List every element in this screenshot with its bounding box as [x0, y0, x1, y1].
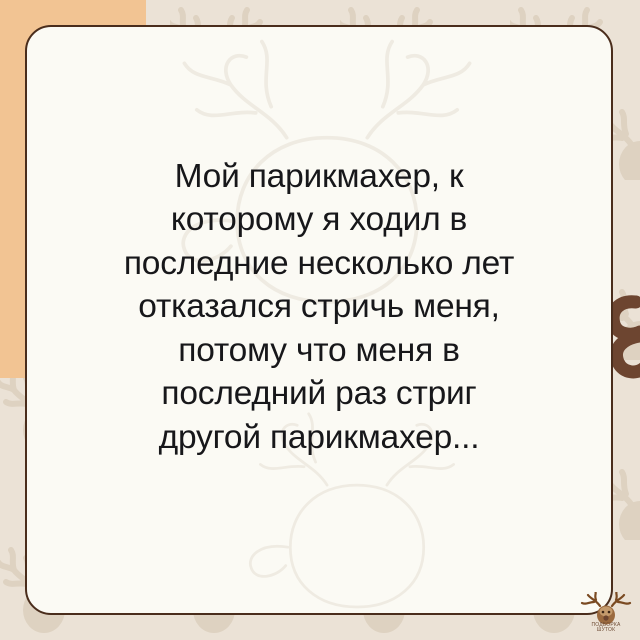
brand-watermark-caption: ПОДБОРКА ШУТОК: [578, 623, 634, 635]
brand-watermark: ПОДБОРКА ШУТОК: [578, 592, 634, 636]
quote-container: Мой парикмахер, к которому я ходил в пос…: [27, 27, 611, 613]
quote-text: Мой парикмахер, к которому я ходил в пос…: [104, 155, 534, 460]
quote-card: Мой парикмахер, к которому я ходил в пос…: [25, 25, 613, 615]
image-canvas: Мой парикмахер, к которому я ходил в пос…: [0, 0, 640, 640]
